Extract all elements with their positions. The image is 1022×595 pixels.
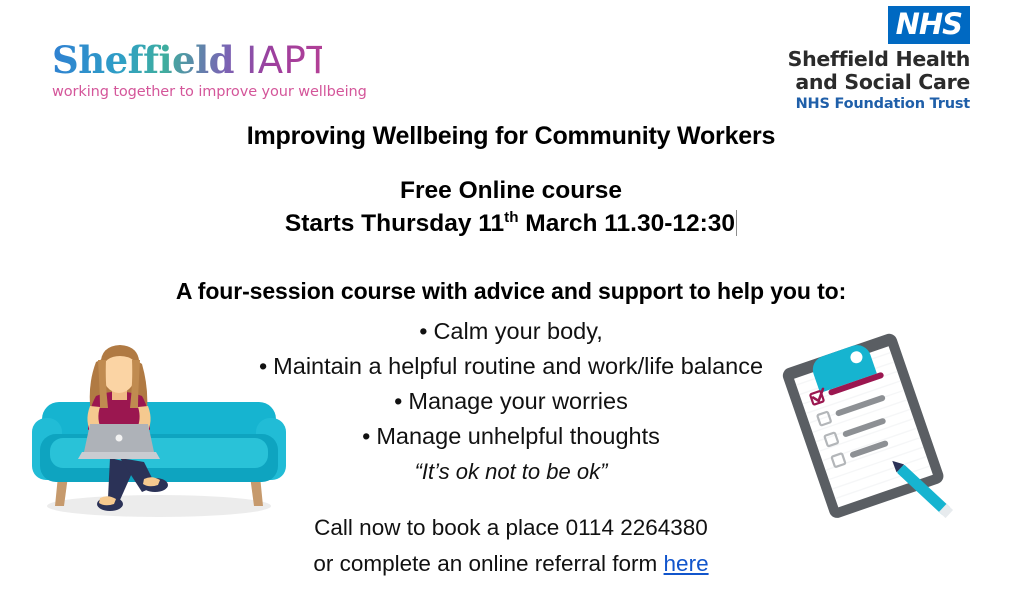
course-start-suffix: March 11.30-12:30 bbox=[519, 210, 736, 237]
sheffield-iapt-logo: Sheffield IAPT working together to impro… bbox=[52, 38, 322, 108]
nhs-trust-line-1: Sheffield Health bbox=[780, 48, 970, 71]
poster-canvas: Sheffield IAPT working together to impro… bbox=[0, 0, 1022, 595]
floor-shadow-shape bbox=[47, 495, 271, 517]
nhs-box-label: NHS bbox=[888, 6, 970, 44]
list-item-label: Manage unhelpful thoughts bbox=[376, 423, 660, 449]
nhs-logo: NHS Sheffield Health and Social Care NHS… bbox=[780, 6, 970, 113]
bullet-dot-icon: • bbox=[362, 423, 370, 449]
list-item-label: Calm your body, bbox=[433, 318, 602, 344]
course-start-prefix: Starts Thursday 11 bbox=[285, 210, 504, 237]
list-item-label: Maintain a helpful routine and work/life… bbox=[273, 353, 763, 379]
woman-on-sofa-illustration bbox=[24, 340, 294, 520]
referral-line: or complete an online referral form here bbox=[0, 546, 1022, 582]
laptop-base-shape bbox=[78, 452, 160, 459]
iapt-wordmark: Sheffield IAPT bbox=[52, 38, 322, 83]
iapt-wordmark-bold: Sheffield bbox=[52, 38, 234, 82]
nhs-foundation-trust-label: NHS Foundation Trust bbox=[780, 96, 970, 113]
course-details: Free Online course Starts Thursday 11th … bbox=[0, 174, 1022, 240]
clipboard-checklist-illustration bbox=[772, 332, 972, 527]
poster-title: Improving Wellbeing for Community Worker… bbox=[0, 122, 1022, 151]
date-ordinal-suffix: th bbox=[504, 209, 518, 226]
referral-form-link[interactable]: here bbox=[664, 551, 709, 576]
nhs-trust-name: Sheffield Health and Social Care bbox=[780, 48, 970, 94]
list-item-label: Manage your worries bbox=[408, 388, 627, 414]
iapt-tagline: working together to improve your wellbei… bbox=[52, 84, 322, 100]
laptop-logo-shape bbox=[116, 435, 123, 442]
bullet-dot-icon: • bbox=[419, 318, 427, 344]
course-type-line: Free Online course bbox=[0, 174, 1022, 207]
referral-prefix: or complete an online referral form bbox=[313, 551, 663, 576]
course-summary-line: A four-session course with advice and su… bbox=[0, 278, 1022, 305]
bullet-dot-icon: • bbox=[394, 388, 402, 414]
iapt-wordmark-light bbox=[234, 39, 246, 82]
text-cursor-caret bbox=[736, 210, 737, 236]
course-start-line: Starts Thursday 11th March 11.30-12:30 bbox=[0, 207, 1022, 240]
iapt-wordmark-light-text: IAPT bbox=[246, 39, 329, 82]
nhs-trust-line-2: and Social Care bbox=[780, 71, 970, 94]
